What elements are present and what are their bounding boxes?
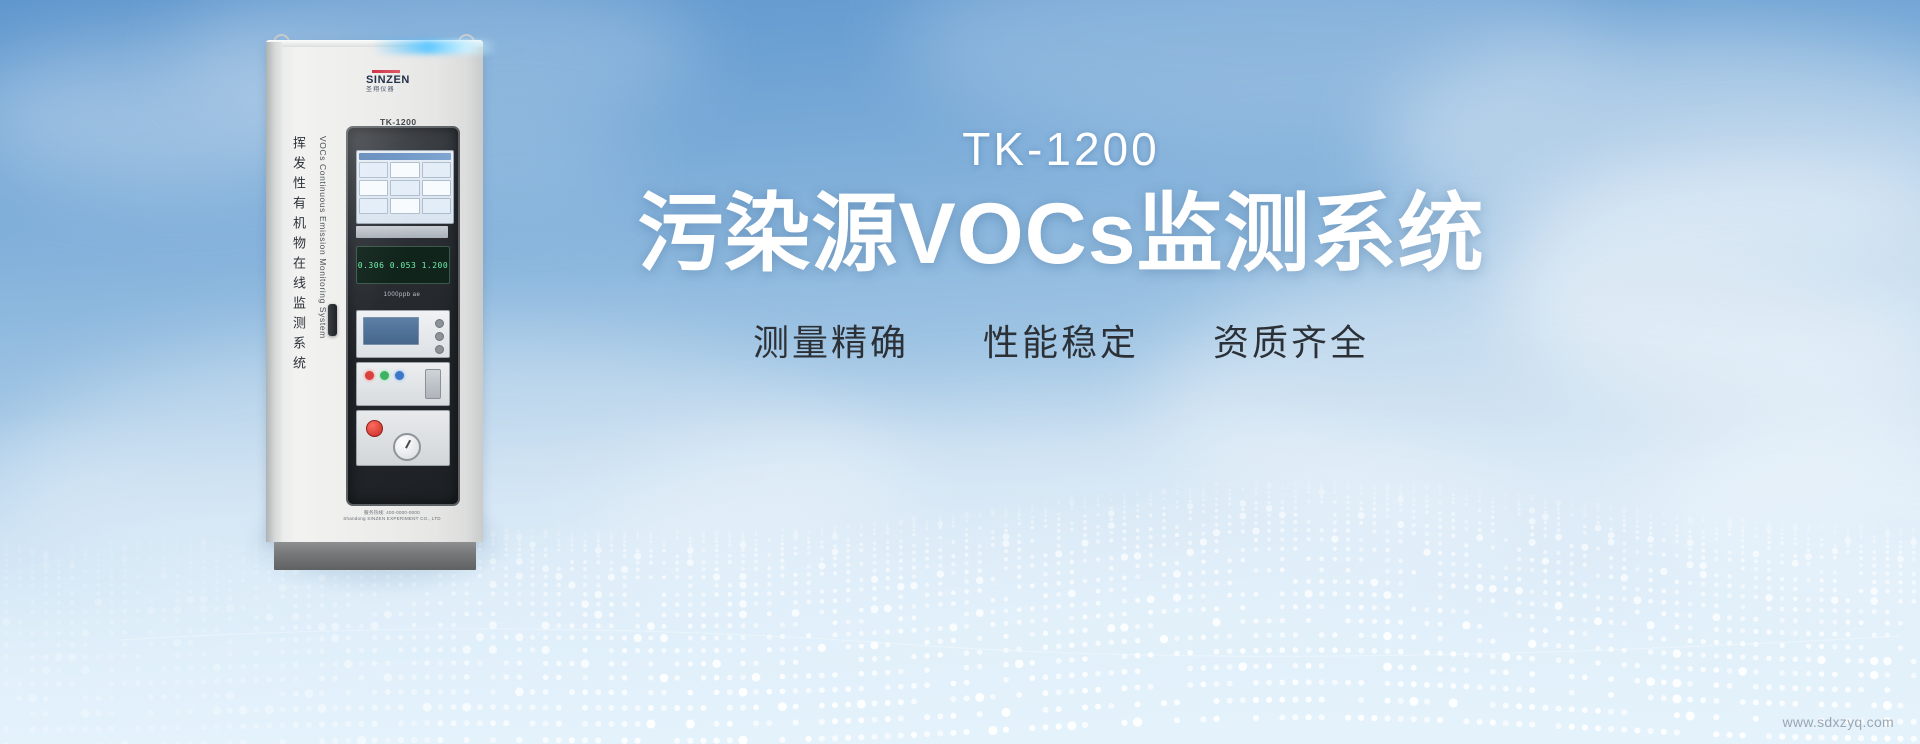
led-blue-icon [395, 371, 404, 380]
cabinet-glass-door: 0.306 0.053 1.200 1000ppb ae [346, 126, 460, 506]
emergency-stop-icon [366, 420, 383, 437]
site-watermark: www.sdxzyq.com [1782, 714, 1894, 730]
cabinet-vertical-text-en: VOCs Continuous Emission Monitoring Syst… [317, 136, 328, 339]
hmi-cell [390, 180, 419, 196]
banner-text-block: TK-1200 污染源VOCs监测系统 测量精确 性能稳定 资质齐全 [556, 120, 1566, 366]
cabinet-plinth-base [274, 542, 476, 570]
led-red-icon [365, 371, 374, 380]
readout-value: 0.306 0.053 1.200 [358, 261, 448, 270]
cabinet-footer-text: 服务热线: 400-0000-0000 Shandong SINZEN EXPE… [322, 510, 462, 522]
brand-logo: SINZEN 圣翔仪器 [366, 70, 440, 96]
instrument-blank-strip [356, 226, 448, 238]
hmi-widget-grid [359, 162, 451, 214]
brand-name: SINZEN [366, 74, 440, 86]
digital-readout-display: 0.306 0.053 1.200 [356, 246, 450, 284]
analyzer-module [356, 310, 450, 358]
product-banner: SINZEN 圣翔仪器 TK-1200 挥发性有机物在线监测系统 VOCs Co… [0, 0, 1920, 744]
feature-item-1: 测量精确 [753, 320, 909, 366]
hmi-cell [359, 162, 388, 178]
analyzer-lcd-screen [363, 317, 419, 345]
cloud-haze [900, 0, 1600, 140]
hmi-cell [390, 162, 419, 178]
product-model-heading: TK-1200 [556, 120, 1566, 178]
analyzer-knobs [435, 319, 444, 354]
status-led-group [365, 371, 404, 380]
valve-panel [356, 410, 450, 466]
hmi-title-bar [359, 153, 451, 160]
product-cabinet-image: SINZEN 圣翔仪器 TK-1200 挥发性有机物在线监测系统 VOCs Co… [262, 24, 487, 570]
blue-light-highlight [372, 40, 497, 54]
cabinet-left-edge [266, 42, 282, 542]
control-panel [356, 362, 450, 406]
filter-tube [425, 369, 441, 399]
hmi-cell [359, 198, 388, 214]
feature-item-3: 资质齐全 [1213, 320, 1369, 366]
hmi-cell [422, 198, 451, 214]
cabinet-footer-line-2: Shandong SINZEN EXPERIMENT CO., LTD [322, 516, 462, 522]
feature-item-2: 性能稳定 [983, 320, 1139, 366]
feature-list: 测量精确 性能稳定 资质齐全 [556, 320, 1566, 366]
brand-name-cn: 圣翔仪器 [366, 86, 440, 94]
cloud-haze [1650, 420, 1920, 640]
readout-unit: 1000ppb ae [384, 292, 421, 298]
hmi-cell [422, 180, 451, 196]
cabinet-door-handle[interactable] [328, 304, 337, 336]
hmi-cell [390, 198, 419, 214]
pressure-gauge-icon [393, 433, 421, 461]
led-green-icon [380, 371, 389, 380]
cloud-haze [600, 400, 1500, 660]
hmi-touchscreen [356, 150, 454, 224]
cabinet-vertical-text-cn: 挥发性有机物在线监测系统 [290, 136, 308, 376]
banner-title: 污染源VOCs监测系统 [556, 182, 1566, 286]
logo-accent-bar [372, 70, 400, 73]
hmi-cell [422, 162, 451, 178]
readout-unit-row: 1000ppb ae [356, 288, 448, 302]
hmi-cell [359, 180, 388, 196]
